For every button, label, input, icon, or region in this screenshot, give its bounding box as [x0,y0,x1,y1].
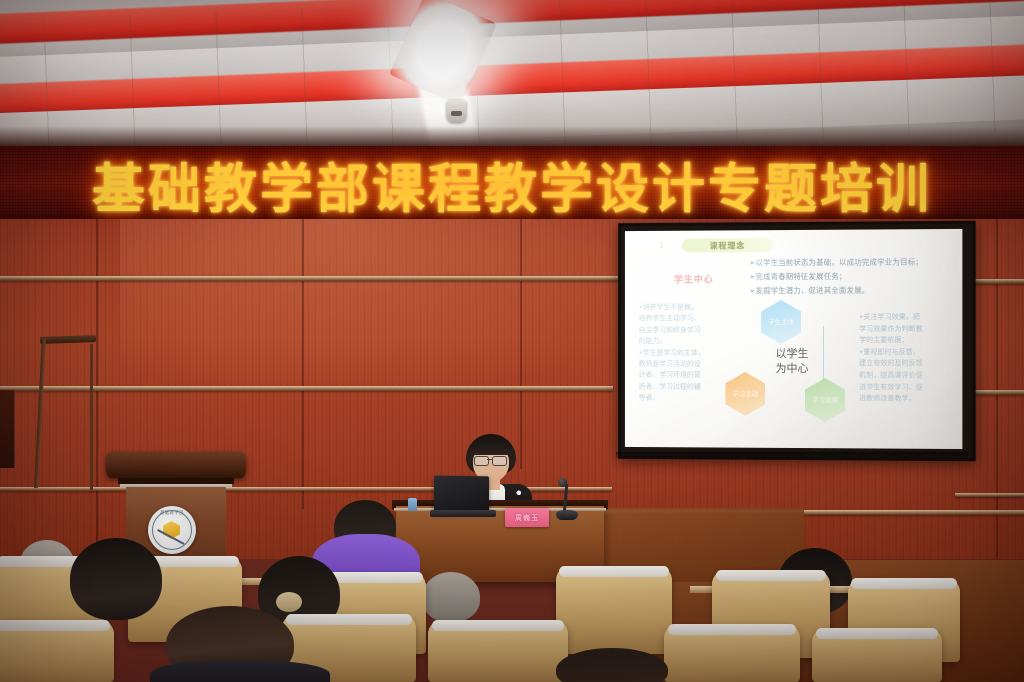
wall-panel-edge [0,390,15,468]
slide-text-line: 的能力。 [639,336,712,347]
slide-text-line: 进教师改善教学。 [859,393,942,405]
slide-text-line: 计者、学习环境的营 [639,370,712,381]
audience-head [70,538,162,620]
slide-text-line: •重视即时与反馈， [859,347,942,359]
diagram-center-line: 以学生 [759,346,825,361]
lecture-hall-photo: 基础教学部课程教学设计专题培训 1 课程理念 学生中心 ➢以学生当前状态为基础，… [0,0,1024,682]
slide-text-line: 学习效果作为判断教 [859,323,942,335]
projection-screen-frame: 1 课程理念 学生中心 ➢以学生当前状态为基础，以成功完成学业为目标； ➢完成青… [618,221,976,462]
microphone-base [556,510,578,520]
auditorium-seat[interactable] [812,628,942,682]
slide-number: 1 [659,241,663,250]
school-crest-icon: 基础教学部 [148,506,196,554]
slide-text-line: 培养学生主动学习、 [639,314,712,325]
diagram-center-line: 为中心 [759,361,825,376]
slide-bullet: ➢以学生当前状态为基础，以成功完成学业为目标； [749,255,940,270]
name-card-text: 周巍玉 [515,513,539,523]
diagram-hexagon-blue: 学生主体 [761,300,801,344]
auditorium-seat[interactable] [0,620,114,682]
slide-text-line: 学的主要依据； [859,335,942,347]
slide-bullet: ➢完成青春期特征发展任务； [749,269,940,284]
slide-text-line: •学生是学习的主体， [639,348,712,359]
audience-head [276,592,302,612]
wall-seam [520,219,522,469]
slide-text-line: 教师是学习活动的设 [639,359,712,370]
auditorium-seat[interactable] [556,566,672,654]
wall-trim-strip [968,279,1024,284]
slide-text-line: 机制，提高课评价促 [859,370,942,382]
projection-screen: 1 课程理念 学生中心 ➢以学生当前状态为基础，以成功完成学业为目标； ➢完成青… [625,229,962,449]
slide-text-line: 建立有效的及时反馈 [859,358,942,370]
slide-text-line: 导者。 [639,393,712,405]
led-banner: 基础教学部课程教学设计专题培训 [0,146,1024,221]
smoke-detector-icon [447,100,466,122]
slide-text-line: 进学生有效学习、促 [859,382,942,394]
diagram-hexagon-orange: 学习主动 [725,372,765,416]
wall-seam [302,219,304,509]
wall-seam [996,219,998,559]
presenter-fringe [470,442,512,455]
diagram-center-label: 以学生 为中心 [759,346,825,376]
slide-text-line: •关注学习效果，把 [859,312,942,324]
audience-shoulders [150,660,330,682]
slide-right-column: •关注学习效果，把 学习效果作为判断教 学的主要依据； •重视即时与反馈， 建立… [859,312,942,406]
slide-bullet: ➢发掘学生潜力，促进其全面发展。 [749,284,940,299]
diagram-hexagon-green: 学习效果 [805,378,845,422]
wall-pole [90,344,93,490]
presenter-name-card: 周巍玉 [505,508,549,527]
water-cup [408,498,417,511]
audience-head [422,572,480,622]
slide-title: 课程理念 [682,238,773,252]
slide-text-line: •培养学生不是教， [639,302,712,313]
auditorium-seat[interactable] [428,620,568,682]
led-banner-text: 基础教学部课程教学设计专题培训 [0,147,1024,221]
eyeglasses-icon [474,456,489,466]
slide-subtitle: 学生中心 [674,272,713,285]
podium-top [106,452,246,478]
slide-text-line: 造者、学习过程的辅 [639,381,712,393]
wall-trim-strip [955,493,1024,497]
slide-left-column: •培养学生不是教， 培养学生主动学习、 自主学习和终身学习 的能力。 •学生是学… [639,302,712,404]
wall-trim-strip [0,276,620,281]
slide-text-line: 自主学习和终身学习 [639,325,712,336]
eyeglasses-icon [492,456,507,466]
auditorium-seat[interactable] [664,624,800,682]
laptop-base [430,510,496,517]
screen-drop-shadow [616,452,968,460]
laptop-screen [434,476,489,513]
eyeglasses-bridge [487,459,492,460]
slide-diagram: 学生主体 学习主动 学习效果 以学生 为中心 [710,298,860,430]
crest-text: 基础教学部 [148,510,196,516]
slide-bullet-list: ➢以学生当前状态为基础，以成功完成学业为目标； ➢完成青春期特征发展任务； ➢发… [749,255,940,298]
